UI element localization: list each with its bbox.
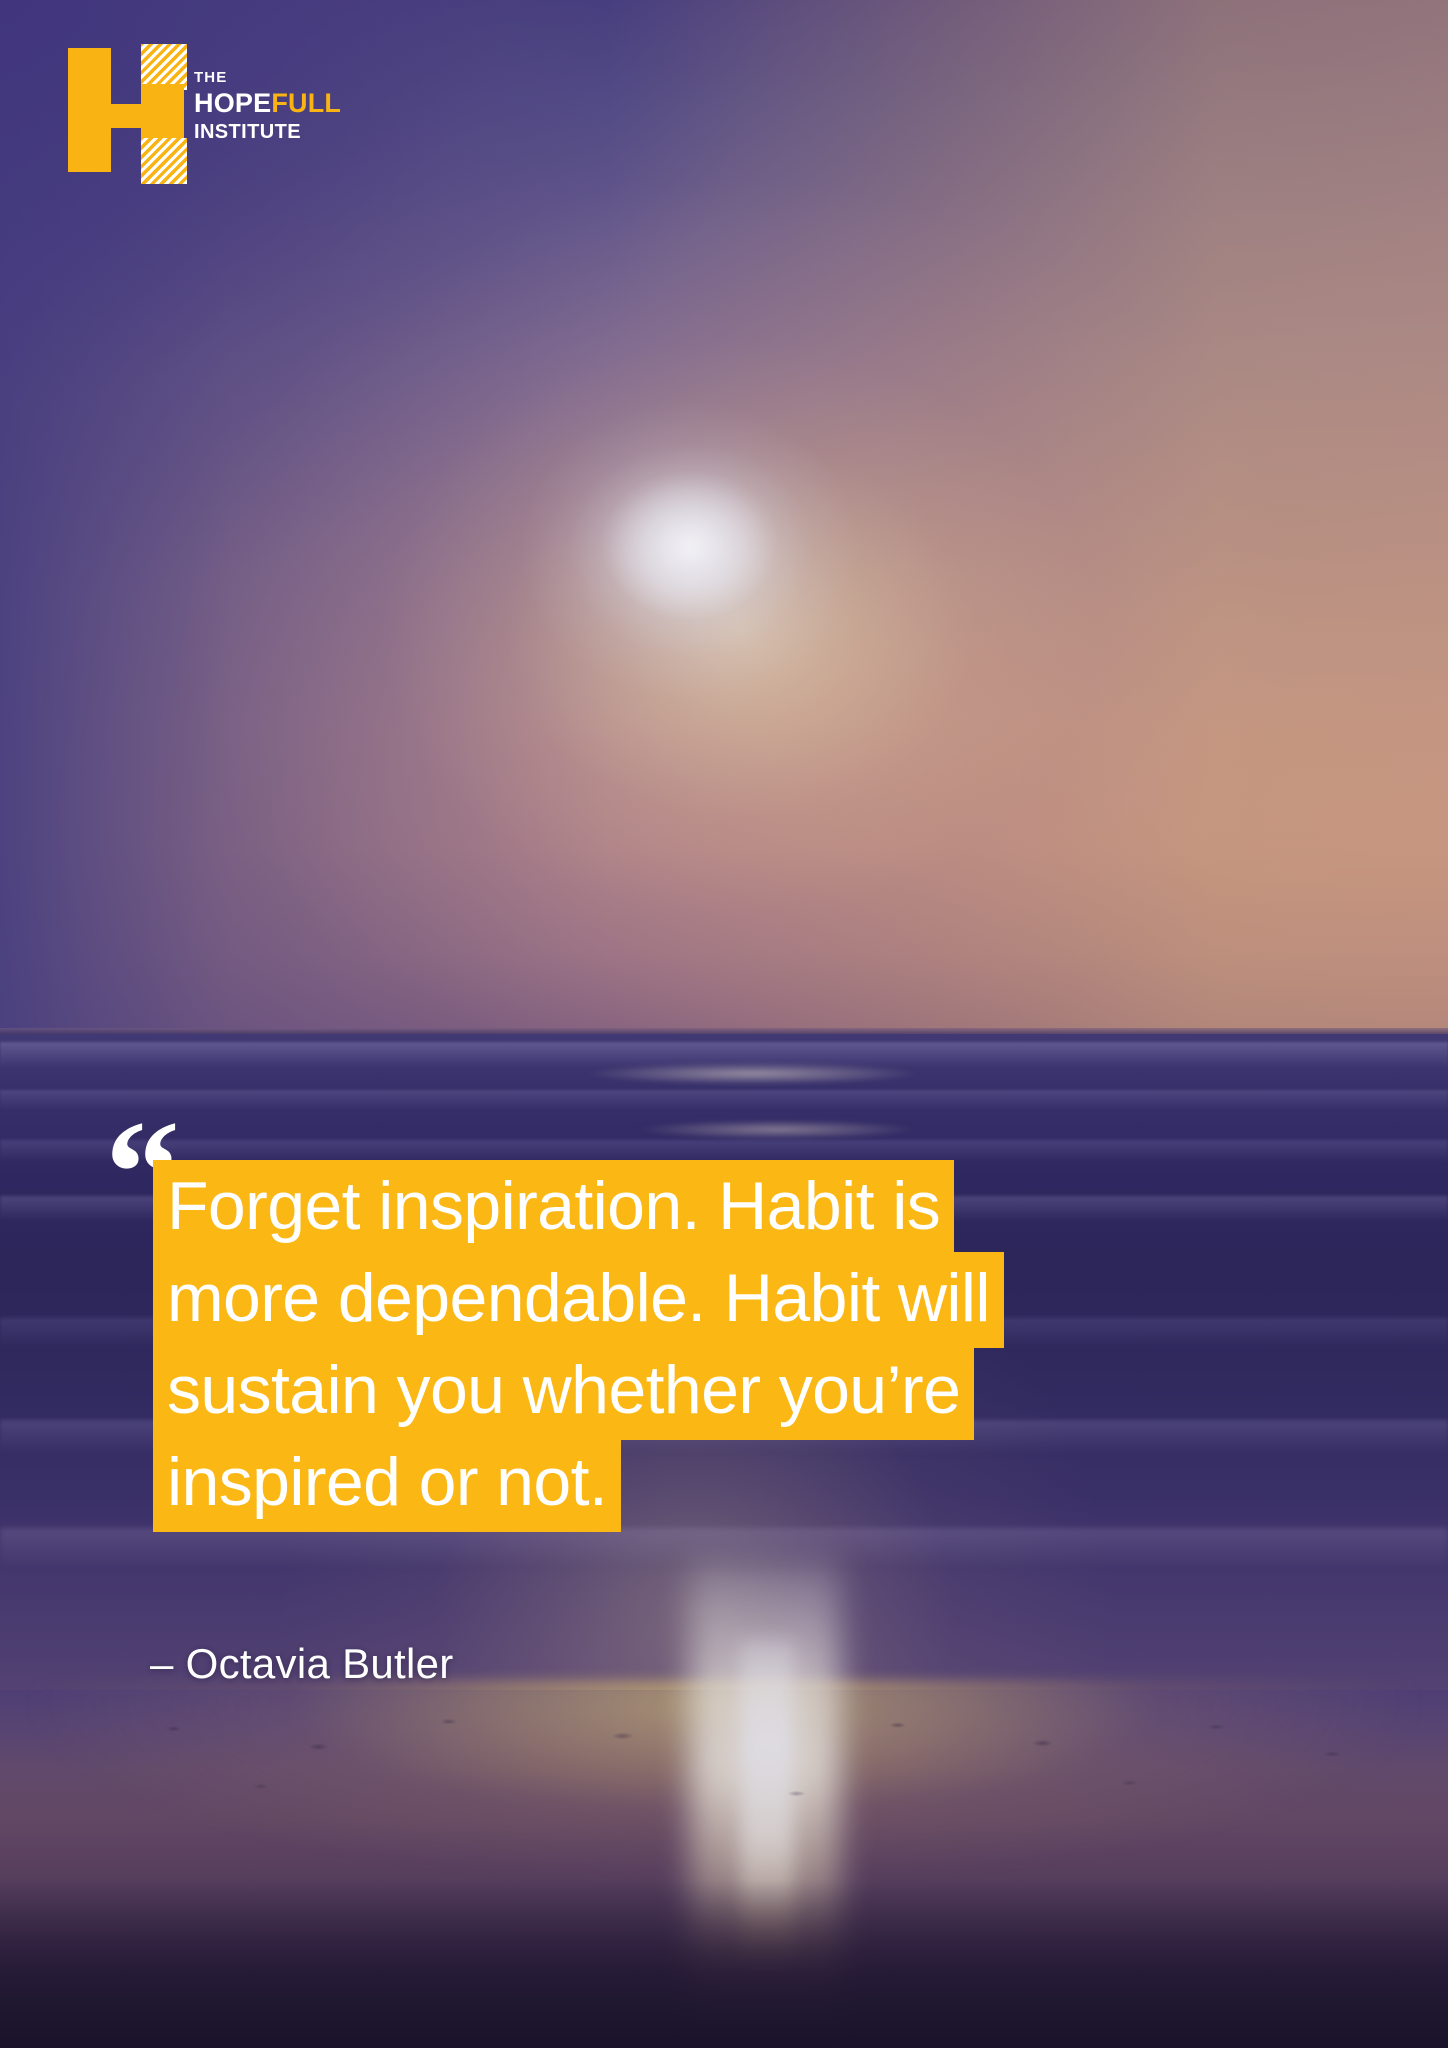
- logo-h-right-stroke: [141, 84, 184, 142]
- logo-h-mark-icon: [46, 42, 164, 172]
- quote-poster: THE HOPEFULL INSTITUTE “ Forget inspirat…: [0, 0, 1448, 2048]
- quote-line: sustain you whether you’re: [153, 1344, 974, 1440]
- logo-line-institute: INSTITUTE: [194, 122, 341, 142]
- quote-attribution: – Octavia Butler: [150, 1640, 454, 1688]
- beach-foam-specks: [0, 1700, 1448, 1880]
- quote-line: more dependable. Habit will: [153, 1252, 1004, 1348]
- quote-text: Forget inspiration. Habit is more depend…: [153, 1160, 1365, 1532]
- logo-line-the: THE: [194, 70, 341, 85]
- brand-logo[interactable]: THE HOPEFULL INSTITUTE: [46, 42, 346, 172]
- beach-shadow: [0, 1880, 1448, 2048]
- logo-hope-prefix: HOPE: [194, 88, 271, 118]
- sun-hotspot: [600, 470, 780, 620]
- quote-block: “ Forget inspiration. Habit is more depe…: [105, 1160, 1365, 1532]
- quote-line: inspired or not.: [153, 1436, 621, 1532]
- background-photo: [0, 0, 1448, 2048]
- logo-full-accent: FULL: [271, 88, 341, 118]
- logo-striped-square-bottom-icon: [141, 138, 187, 184]
- logo-line-hopefull: HOPEFULL: [194, 90, 341, 117]
- quote-line: Forget inspiration. Habit is: [153, 1160, 954, 1256]
- logo-wordmark: THE HOPEFULL INSTITUTE: [194, 70, 341, 142]
